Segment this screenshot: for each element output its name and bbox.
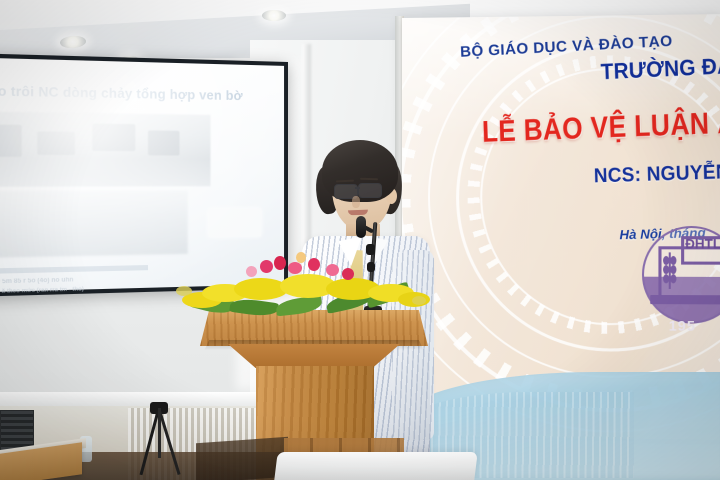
logo-wheat-icon [663,250,677,291]
logo-acronym: ĐHTL [685,238,720,249]
nose [352,196,360,208]
flower-arrangement [176,252,426,324]
tripod-leg [158,408,161,458]
microphone-head [356,216,366,238]
podium-neck [228,344,400,368]
banner-candidate-line: NCS: NGUYỄN [594,161,720,188]
glasses-bridge [355,187,360,189]
foreground-table [274,452,477,480]
university-logo: ĐHTL 195 [640,224,720,346]
downlight-icon [262,10,286,21]
logo-founding-year: 195 [669,317,696,333]
glasses-lens-right [358,183,382,198]
logo-base-bar [650,295,720,304]
photo-scene: phao trôi NC dòng chảy tổng hợp ven bờ n… [0,0,720,480]
